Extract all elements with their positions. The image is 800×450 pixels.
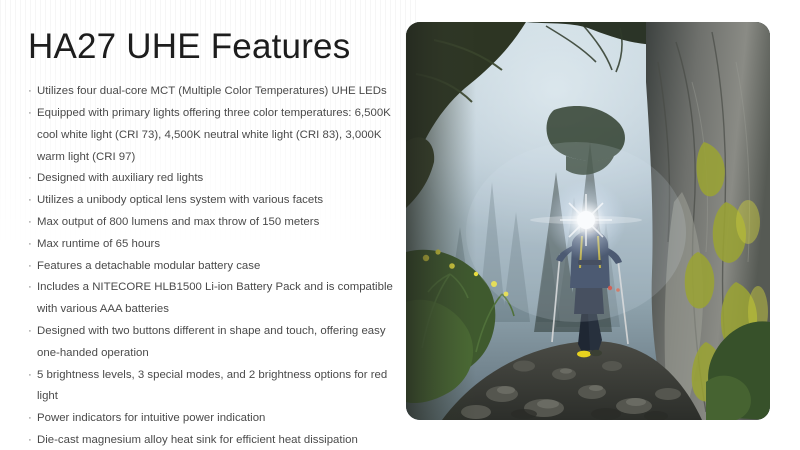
shoe-right — [590, 350, 602, 356]
list-item: · Max runtime of 65 hours — [28, 234, 408, 256]
list-item-text: Designed with two buttons different in s… — [37, 325, 386, 359]
list-item-text: Max runtime of 65 hours — [37, 238, 160, 250]
feature-list: · Utilizes four dual-core MCT (Multiple … — [28, 81, 408, 450]
shoe-left — [577, 351, 591, 358]
bullet-marker: · — [28, 234, 32, 256]
list-item-text: Utilizes a unibody optical lens system w… — [37, 194, 323, 206]
list-item-text: Die-cast magnesium alloy heat sink for e… — [37, 434, 358, 446]
product-lifestyle-photo — [406, 22, 770, 420]
list-item: · Features a detachable modular battery … — [28, 256, 408, 278]
list-item-text: Includes a NITECORE HLB1500 Li-ion Batte… — [37, 281, 393, 315]
list-item: · Designed with two buttons different in… — [28, 321, 408, 365]
list-item: · Designed with auxiliary red lights — [28, 168, 408, 190]
bullet-marker: · — [28, 168, 32, 190]
bullet-marker: · — [28, 408, 32, 430]
list-item: · Utilizes a unibody optical lens system… — [28, 190, 408, 212]
list-item-text: 5 brightness levels, 3 special modes, an… — [37, 369, 387, 403]
bullet-marker: · — [28, 103, 32, 125]
list-item-text: Features a detachable modular battery ca… — [37, 260, 260, 272]
list-item-text: Max output of 800 lumens and max throw o… — [37, 216, 319, 228]
list-item-text: Power indicators for intuitive power ind… — [37, 412, 265, 424]
page-title: HA27 UHE Features — [28, 26, 408, 67]
bullet-marker: · — [28, 81, 32, 103]
list-item: · Die-cast magnesium alloy heat sink for… — [28, 430, 408, 450]
photo-illustration — [406, 22, 770, 420]
bullet-marker: · — [28, 277, 32, 299]
bullet-marker: · — [28, 365, 32, 387]
list-item-text: Utilizes four dual-core MCT (Multiple Co… — [37, 85, 387, 97]
bullet-marker: · — [28, 430, 32, 450]
bullet-marker: · — [28, 212, 32, 234]
list-item: · Includes a NITECORE HLB1500 Li-ion Bat… — [28, 277, 408, 321]
slide-root: HA27 UHE Features · Utilizes four dual-c… — [0, 0, 800, 450]
list-item: · 5 brightness levels, 3 special modes, … — [28, 365, 408, 409]
list-item: · Max output of 800 lumens and max throw… — [28, 212, 408, 234]
list-item: · Utilizes four dual-core MCT (Multiple … — [28, 81, 408, 103]
bullet-marker: · — [28, 256, 32, 278]
list-item-text: Equipped with primary lights offering th… — [37, 107, 391, 163]
list-item: · Power indicators for intuitive power i… — [28, 408, 408, 430]
bullet-marker: · — [28, 190, 32, 212]
text-column: HA27 UHE Features · Utilizes four dual-c… — [28, 26, 408, 450]
list-item: · Equipped with primary lights offering … — [28, 103, 408, 168]
list-item-text: Designed with auxiliary red lights — [37, 172, 203, 184]
bullet-marker: · — [28, 321, 32, 343]
